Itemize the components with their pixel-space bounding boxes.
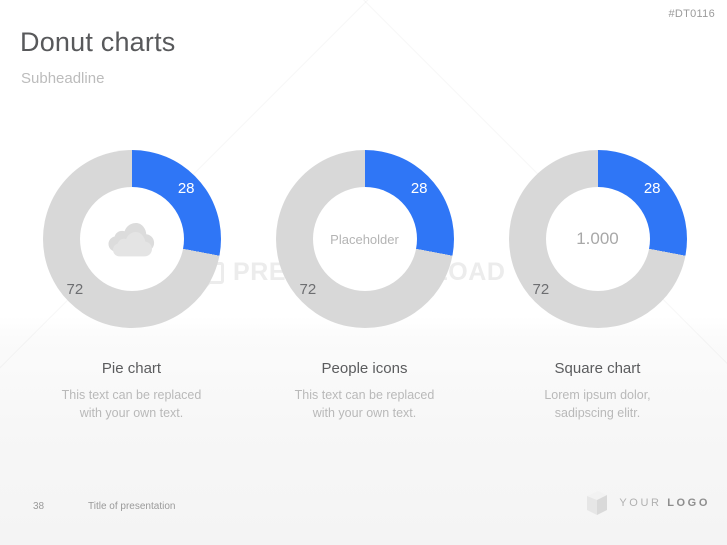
donut-label-28-3: 28 [644,180,661,197]
donut-chart-1[interactable]: 28 72 [43,150,221,328]
donut-chart-3[interactable]: 1.000 28 72 [509,150,687,328]
donut-chart-2[interactable]: Placeholder 28 72 [276,150,454,328]
chart-card-pie-chart: 28 72 Pie chart This text can be replace… [15,150,248,422]
donut-center-label-2: Placeholder [330,232,399,247]
caption-line-1: This text can be replaced [295,386,435,404]
chart-caption-title-2: People icons [322,360,408,377]
footer-page-number: 38 [33,501,44,512]
chart-caption-title-3: Square chart [555,360,641,377]
logo-text-light: YOUR [619,497,667,509]
caption-line-1: This text can be replaced [62,386,202,404]
donut-label-72-2: 72 [300,281,317,298]
logo-text-bold: LOGO [667,497,710,509]
slide-canvas: #DT0116 Donut charts Subheadline PRESENT… [0,0,727,545]
chart-caption-title-1: Pie chart [102,360,161,377]
donut-center-label-3: 1.000 [576,229,619,249]
chart-caption-body-2: This text can be replaced with your own … [295,386,435,422]
cloud-icon [106,220,158,258]
footer-presentation-title: Title of presentation [88,501,175,512]
donut-label-28-2: 28 [411,180,428,197]
donut-label-28-1: 28 [178,180,195,197]
page-subtitle: Subheadline [21,70,104,87]
chart-caption-body-1: This text can be replaced with your own … [62,386,202,422]
donut-center-3: 1.000 [546,187,650,291]
charts-row: 28 72 Pie chart This text can be replace… [0,150,727,422]
caption-line-2: with your own text. [62,404,202,422]
document-id: #DT0116 [668,8,715,20]
caption-line-2: with your own text. [295,404,435,422]
donut-label-72-3: 72 [533,281,550,298]
logo: YOUR LOGO [585,490,710,516]
cube-logo-icon [585,490,609,516]
page-title: Donut charts [20,27,175,58]
donut-center-2: Placeholder [313,187,417,291]
chart-caption-body-3: Lorem ipsum dolor, sadipscing elitr. [544,386,650,422]
caption-line-1: Lorem ipsum dolor, [544,386,650,404]
logo-text: YOUR LOGO [619,497,710,509]
chart-card-people-icons: Placeholder 28 72 People icons This text… [248,150,481,422]
chart-card-square-chart: 1.000 28 72 Square chart Lorem ipsum dol… [481,150,714,422]
donut-label-72-1: 72 [67,281,84,298]
donut-center-1 [80,187,184,291]
caption-line-2: sadipscing elitr. [544,404,650,422]
